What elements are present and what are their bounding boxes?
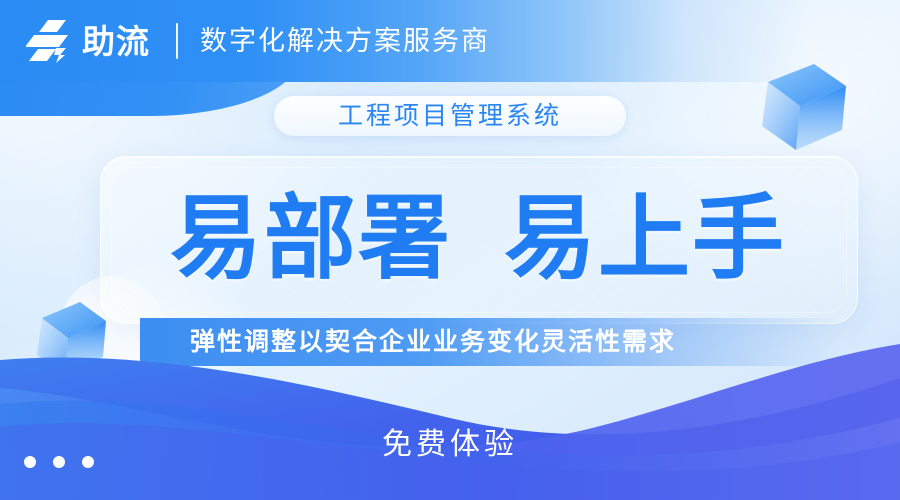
hero-headline-right: 易上手 bbox=[504, 193, 786, 285]
hero-headline-left: 易部署 bbox=[170, 193, 452, 285]
cta-free-trial[interactable]: 免费体验 bbox=[0, 430, 900, 460]
header-divider bbox=[176, 23, 178, 59]
bottom-wave-decoration bbox=[0, 330, 900, 500]
dot-2 bbox=[53, 456, 65, 468]
logo-wordmark: 助流 bbox=[82, 25, 150, 58]
header-tagline: 数字化解决方案服务商 bbox=[200, 28, 490, 55]
cube-3d-icon-top-right bbox=[744, 56, 856, 160]
promo-banner: 助流 数字化解决方案服务商 bbox=[0, 0, 900, 500]
cta-free-trial-label: 免费体验 bbox=[382, 428, 518, 461]
dot-3 bbox=[82, 456, 94, 468]
flash-parallelogram-logo-icon bbox=[26, 19, 74, 63]
dot-1 bbox=[24, 456, 36, 468]
hero-headline: 易部署 易上手 bbox=[100, 156, 856, 322]
product-badge-label: 工程项目管理系统 bbox=[338, 104, 562, 129]
product-badge: 工程项目管理系统 bbox=[274, 96, 626, 136]
decorative-dots bbox=[24, 456, 94, 468]
